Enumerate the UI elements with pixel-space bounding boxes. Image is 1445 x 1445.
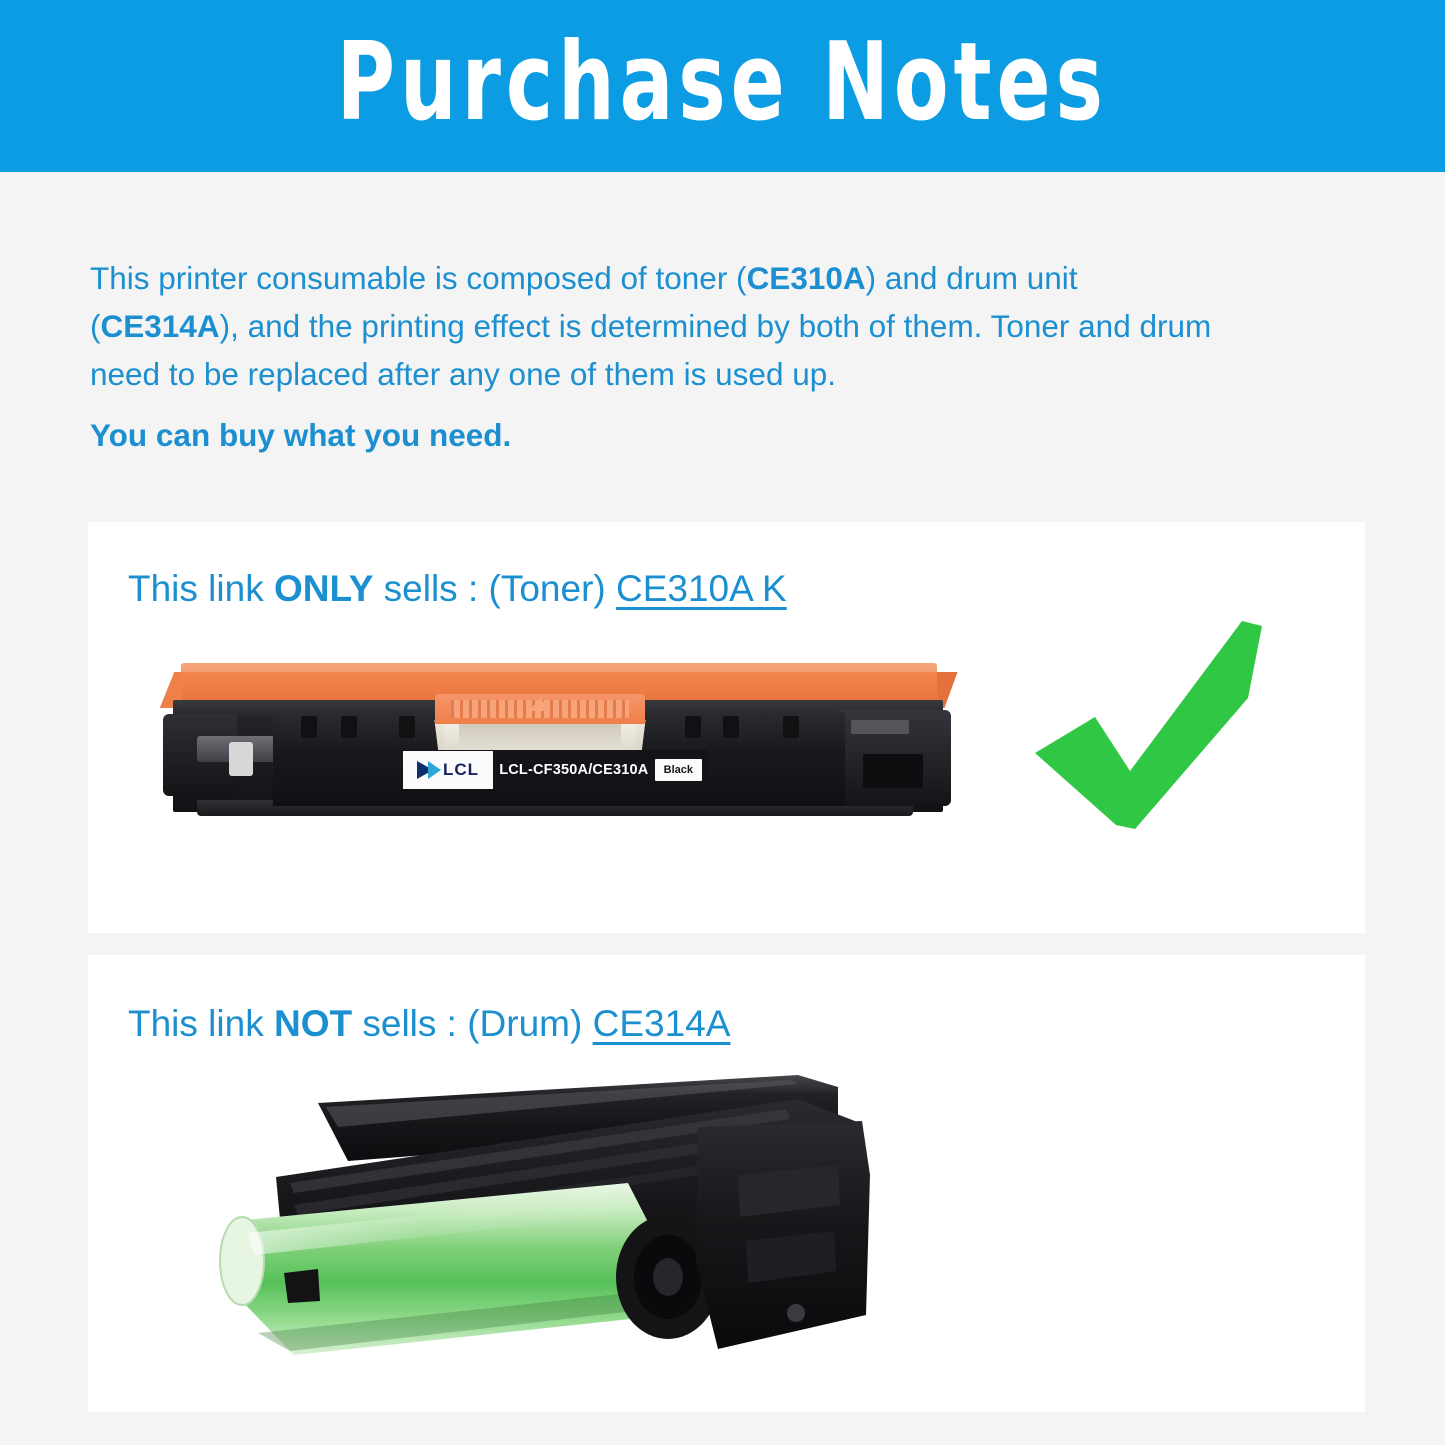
intro-line1-b: ) and drum unit	[866, 260, 1078, 296]
lcl-logo-triangle-icon	[428, 761, 441, 779]
cartridge-clip	[723, 716, 739, 738]
green-check-icon	[1020, 616, 1310, 846]
intro-line2-a: (	[90, 308, 101, 344]
page-header-banner: Purchase Notes	[0, 0, 1445, 172]
intro-callout: You can buy what you need.	[90, 411, 1360, 459]
toner-heading-middle: sells : (Toner)	[373, 568, 616, 609]
drum-right-hub-core	[653, 1258, 683, 1296]
drum-right-frame	[696, 1121, 870, 1349]
drum-right-frame-pin	[787, 1304, 805, 1322]
purchase-notes-page: Purchase Notes This printer consumable i…	[0, 0, 1445, 1445]
toner-heading-code: CE310A K	[616, 568, 787, 609]
cartridge-label-model: LCL-CF350A/CE310A	[493, 762, 655, 778]
drum-heading-emphasis: NOT	[274, 1003, 352, 1044]
intro-line3: need to be replaced after any one of the…	[90, 356, 836, 392]
intro-drum-code: CE314A	[101, 308, 220, 344]
cartridge-color-chip: Black	[655, 759, 702, 781]
cartridge-clip	[685, 716, 701, 738]
toner-cartridge-image: LCL LCL-CF350A/CE310A Black	[163, 650, 958, 830]
toner-heading-emphasis: ONLY	[274, 568, 373, 609]
drum-heading-prefix: This link	[128, 1003, 274, 1044]
cartridge-clip	[301, 716, 317, 738]
cartridge-right-notch	[863, 754, 923, 788]
drum-heading-code: CE314A	[593, 1003, 731, 1044]
cartridge-clip	[399, 716, 415, 738]
toner-heading-prefix: This link	[128, 568, 274, 609]
lcl-logo: LCL	[403, 751, 493, 789]
intro-line1-a: This printer consumable is composed of t…	[90, 260, 747, 296]
intro-toner-code: CE310A	[747, 260, 866, 296]
product-card-drum: This link NOT sells : (Drum) CE314A	[88, 955, 1365, 1412]
cartridge-label: LCL LCL-CF350A/CE310A Black	[403, 750, 708, 790]
cartridge-right-contact	[851, 720, 909, 734]
drum-left-foot	[284, 1269, 320, 1303]
product-card-toner: This link ONLY sells : (Toner) CE310A K	[88, 522, 1365, 933]
toner-card-heading: This link ONLY sells : (Toner) CE310A K	[128, 568, 787, 610]
drum-unit-illustration	[198, 1065, 878, 1395]
intro-paragraph: This printer consumable is composed of t…	[90, 254, 1360, 398]
cartridge-clip	[783, 716, 799, 738]
drum-card-heading: This link NOT sells : (Drum) CE314A	[128, 1003, 730, 1045]
drum-unit-image	[198, 1065, 878, 1395]
toner-included-check	[1020, 616, 1310, 846]
page-title: Purchase Notes	[337, 29, 1108, 143]
cartridge-handle-arrow-icon	[529, 698, 551, 711]
lcl-logo-text: LCL	[443, 760, 479, 780]
cartridge-clip	[341, 716, 357, 738]
opc-drum-left-end	[220, 1217, 264, 1305]
intro-line2-b: ), and the printing effect is determined…	[220, 308, 1212, 344]
drum-heading-middle: sells : (Drum)	[352, 1003, 593, 1044]
cartridge-left-gear	[229, 742, 253, 776]
